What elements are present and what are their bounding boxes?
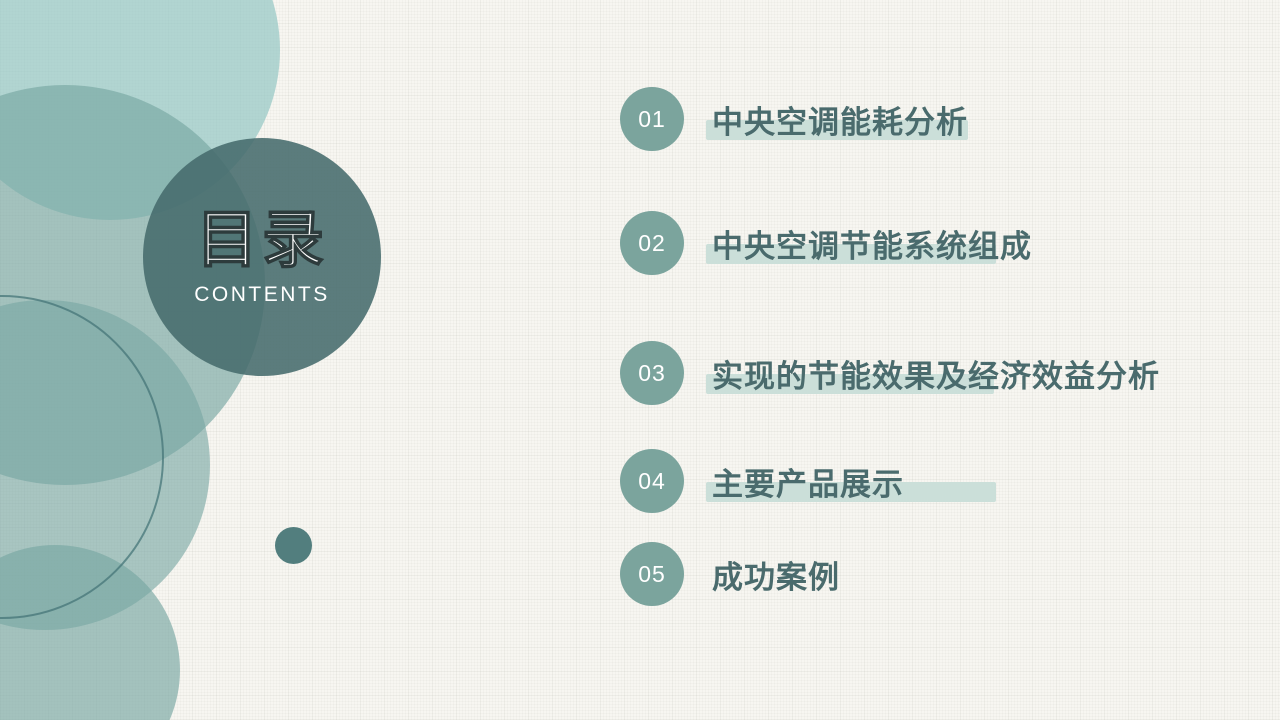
decorative-dot	[275, 527, 312, 564]
agenda-list: 01中央空调能耗分析02中央空调节能系统组成03实现的节能效果及经济效益分析04…	[620, 0, 1280, 720]
agenda-item-label-wrap: 实现的节能效果及经济效益分析	[712, 341, 1160, 405]
agenda-item-label-wrap: 中央空调能耗分析	[712, 87, 968, 151]
agenda-item[interactable]: 01中央空调能耗分析	[620, 87, 968, 151]
agenda-item-label: 中央空调能耗分析	[712, 97, 968, 142]
agenda-item-number: 05	[620, 542, 684, 606]
contents-slide: 目录 CONTENTS 01中央空调能耗分析02中央空调节能系统组成03实现的节…	[0, 0, 1280, 720]
agenda-item-label: 实现的节能效果及经济效益分析	[712, 351, 1160, 396]
agenda-item-label-wrap: 中央空调节能系统组成	[712, 211, 1032, 275]
agenda-item-number: 02	[620, 211, 684, 275]
agenda-item[interactable]: 05成功案例	[620, 542, 840, 606]
agenda-item-label: 成功案例	[712, 552, 840, 597]
agenda-item-label: 主要产品展示	[712, 459, 904, 504]
agenda-item-number: 03	[620, 341, 684, 405]
title-circle: 目录 CONTENTS	[143, 138, 381, 376]
agenda-item[interactable]: 04主要产品展示	[620, 449, 904, 513]
agenda-item-label-wrap: 成功案例	[712, 542, 840, 606]
agenda-item-label-wrap: 主要产品展示	[712, 449, 904, 513]
agenda-item[interactable]: 02中央空调节能系统组成	[620, 211, 1032, 275]
agenda-item[interactable]: 03实现的节能效果及经济效益分析	[620, 341, 1160, 405]
page-title-subtitle: CONTENTS	[194, 284, 330, 305]
agenda-item-label: 中央空调节能系统组成	[712, 221, 1032, 266]
agenda-item-number: 04	[620, 449, 684, 513]
page-title: 目录	[196, 210, 328, 272]
agenda-item-number: 01	[620, 87, 684, 151]
